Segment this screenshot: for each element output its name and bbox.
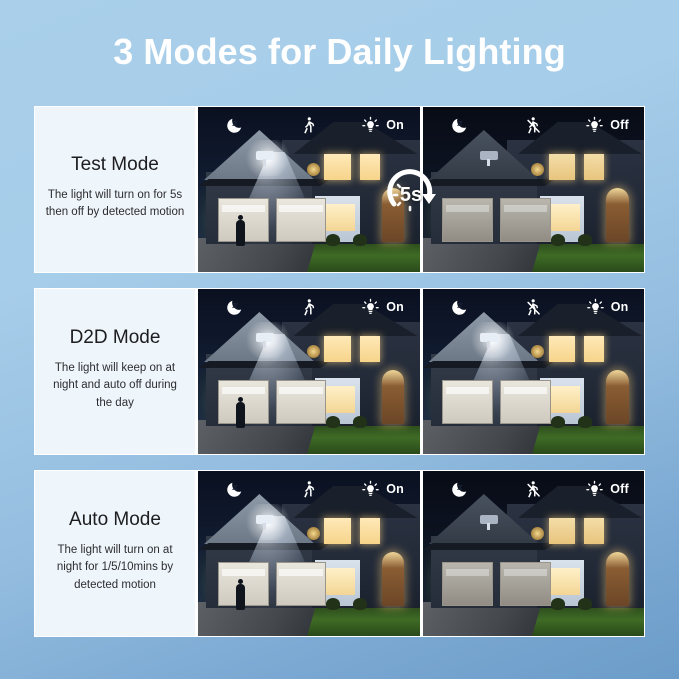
light-bulb-icon [361, 480, 380, 499]
upper-window [360, 518, 380, 544]
front-door [382, 188, 404, 242]
scene-icon-strip: Off [423, 471, 645, 507]
eave [423, 179, 556, 186]
scene-d2d-left: On [198, 289, 420, 454]
walking-person-icon [272, 298, 346, 317]
mode-title: D2D Mode [70, 327, 161, 349]
shrub [326, 416, 340, 428]
front-door [606, 552, 628, 606]
light-state-right: On [570, 298, 644, 317]
mode-info-panel: Auto Mode The light will turn on at nigh… [35, 471, 195, 636]
walking-person-icon [272, 480, 346, 499]
flood-light-fixture [480, 515, 498, 524]
moon-icon [198, 116, 272, 135]
roof-medallion [307, 163, 320, 176]
light-state-text: Off [610, 482, 629, 496]
flood-light-fixture [480, 333, 498, 342]
moon-icon [423, 116, 497, 135]
garage-door-panel [222, 205, 265, 212]
shrub [353, 234, 367, 246]
light-state-left: On [346, 116, 420, 135]
mode-card-auto: Auto Mode The light will turn on at nigh… [34, 470, 645, 637]
garage-door [442, 380, 493, 424]
shrub [353, 598, 367, 610]
scene-auto-right: Off [423, 471, 645, 636]
mode-info-panel: D2D Mode The light will keep on at night… [35, 289, 195, 454]
light-state-text: On [386, 300, 404, 314]
shrub [551, 234, 565, 246]
scene-auto-left: On [198, 471, 420, 636]
walking-person-figure [236, 220, 245, 246]
scene-icon-strip: On [198, 471, 420, 507]
mode-card-list: Test Mode The light will turn on for 5s … [34, 106, 645, 637]
mode-card-test: Test Mode The light will turn on for 5s … [34, 106, 645, 273]
front-door [382, 552, 404, 606]
scene-icon-strip: On [198, 289, 420, 325]
scene-icon-strip: On [423, 289, 645, 325]
garage-door-panel [279, 569, 322, 576]
light-state-text: On [611, 300, 629, 314]
scene-pair: On [195, 471, 644, 636]
eave [423, 543, 556, 550]
upper-window [324, 336, 351, 362]
light-state-text: Off [610, 118, 629, 132]
flood-light-fixture [256, 151, 274, 160]
upper-window [584, 336, 604, 362]
garage-door-panel [446, 387, 489, 394]
shrub [326, 234, 340, 246]
walking-person-figure [236, 402, 245, 428]
garage-door-panel [504, 387, 547, 394]
light-bulb-icon [361, 298, 380, 317]
mode-title: Auto Mode [69, 509, 161, 531]
eave [198, 543, 331, 550]
eave [198, 361, 331, 368]
upper-window [549, 336, 576, 362]
upper-window [324, 154, 351, 180]
garage-door [442, 562, 493, 606]
garage-door [276, 380, 327, 424]
moon-icon [423, 480, 497, 499]
no-motion-person-icon [496, 116, 570, 135]
scene-test-right: Off [423, 107, 645, 272]
scene-pair: On [195, 289, 644, 454]
moon-icon [198, 480, 272, 499]
garage-door-panel [279, 205, 322, 212]
flood-light-fixture [480, 151, 498, 160]
garage-door-panel [446, 569, 489, 576]
front-door [606, 370, 628, 424]
light-bulb-icon [361, 116, 380, 135]
upper-window [324, 518, 351, 544]
page-title: 3 Modes for Daily Lighting [0, 31, 679, 73]
mode-title: Test Mode [71, 154, 159, 176]
garage-door [276, 562, 327, 606]
walking-person-icon [272, 116, 346, 135]
garage-door-panel [222, 387, 265, 394]
garage-door [500, 198, 551, 242]
light-state-right: Off [570, 116, 644, 135]
eave [423, 361, 556, 368]
garage-door [276, 198, 327, 242]
light-bulb-icon [585, 480, 604, 499]
light-state-text: On [386, 118, 404, 132]
upper-window [549, 518, 576, 544]
light-state-right: Off [570, 480, 644, 499]
shrub [578, 598, 592, 610]
no-motion-person-icon [496, 298, 570, 317]
mode-info-panel: Test Mode The light will turn on for 5s … [35, 107, 195, 272]
shrub [578, 234, 592, 246]
mode-description: The light will keep on at night and auto… [44, 360, 186, 412]
shrub [551, 416, 565, 428]
garage-door-panel [222, 569, 265, 576]
shrub [551, 598, 565, 610]
eave [198, 179, 331, 186]
light-bulb-icon [586, 298, 605, 317]
flood-light-fixture [256, 333, 274, 342]
scene-test-left: On [198, 107, 420, 272]
shrub [578, 416, 592, 428]
upper-window [360, 336, 380, 362]
garage-door-panel [279, 387, 322, 394]
roof-medallion [307, 345, 320, 358]
light-bulb-icon [585, 116, 604, 135]
light-state-text: On [386, 482, 404, 496]
scene-pair: On [195, 107, 644, 272]
walking-person-figure [236, 584, 245, 610]
roof-medallion [307, 527, 320, 540]
shrub [353, 416, 367, 428]
garage-door [442, 198, 493, 242]
garage-door-panel [504, 205, 547, 212]
garage-door [500, 380, 551, 424]
upper-window [584, 518, 604, 544]
mode-card-d2d: D2D Mode The light will keep on at night… [34, 288, 645, 455]
garage-door [500, 562, 551, 606]
light-state-left: On [346, 480, 420, 499]
scene-d2d-right: On [423, 289, 645, 454]
mode-description: The light will turn on for 5s then off b… [44, 187, 186, 222]
garage-door-panel [504, 569, 547, 576]
front-door [382, 370, 404, 424]
garage-door-panel [446, 205, 489, 212]
front-door [606, 188, 628, 242]
light-state-left: On [346, 298, 420, 317]
upper-window [584, 154, 604, 180]
upper-window [360, 154, 380, 180]
scene-icon-strip: Off [423, 107, 645, 143]
shrub [326, 598, 340, 610]
upper-window [549, 154, 576, 180]
flood-light-fixture [256, 515, 274, 524]
scene-icon-strip: On [198, 107, 420, 143]
no-motion-person-icon [496, 480, 570, 499]
moon-icon [198, 298, 272, 317]
moon-icon [423, 298, 497, 317]
mode-description: The light will turn on at night for 1/5/… [44, 542, 186, 594]
